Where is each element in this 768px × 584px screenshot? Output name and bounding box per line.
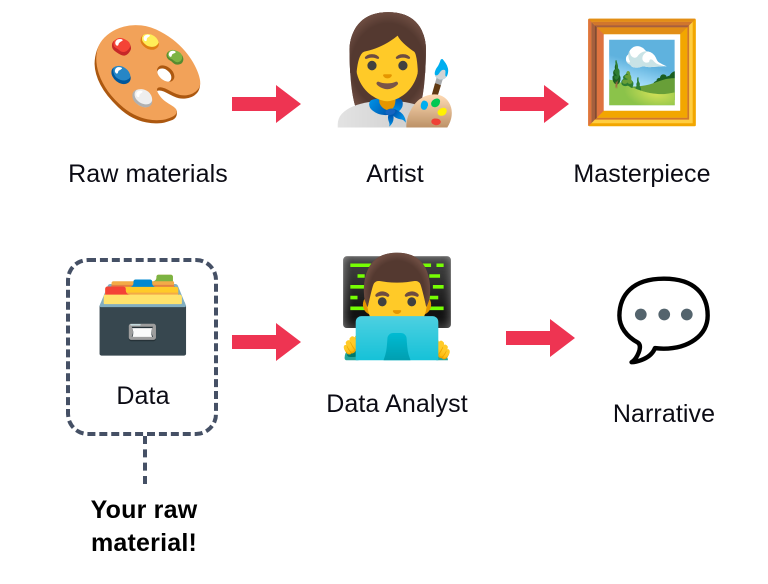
arrow-data-to-data-analyst [232, 322, 302, 367]
step-label-narrative: Narrative [613, 400, 715, 429]
step-label-masterpiece: Masterpiece [573, 160, 710, 189]
step-artist: 👩‍🎨 Artist [300, 18, 490, 189]
step-narrative: 💬 Narrative [572, 280, 756, 429]
step-label-data-analyst: Data Analyst [326, 390, 468, 419]
step-label-raw-materials: Raw materials [68, 160, 228, 189]
arrow-data-analyst-to-narrative [506, 318, 576, 363]
technologist-icon: 👨‍💻 [336, 258, 458, 370]
speech-balloon-icon: 💬 [614, 280, 714, 376]
step-label-data: Data [116, 382, 169, 411]
annotation-connector-line [143, 436, 147, 484]
step-masterpiece: 🖼️ Masterpiece [530, 24, 754, 189]
step-label-artist: Artist [366, 160, 424, 189]
card-file-box-icon: 🗃️ [93, 272, 193, 368]
diagram-canvas: 🎨 Raw materials 👩‍🎨 Artist 🖼️ Masterpiec… [0, 0, 768, 584]
artist-palette-icon: 🎨 [88, 26, 208, 138]
step-data: 🗃️ Data [62, 272, 224, 411]
arrow-raw-materials-to-artist [232, 84, 302, 129]
step-data-analyst: 👨‍💻 Data Analyst [296, 258, 498, 419]
artist-person-icon: 👩‍🎨 [330, 18, 460, 138]
annotation-your-raw-material: Your raw material! [56, 494, 232, 560]
framed-picture-icon: 🖼️ [581, 24, 703, 138]
